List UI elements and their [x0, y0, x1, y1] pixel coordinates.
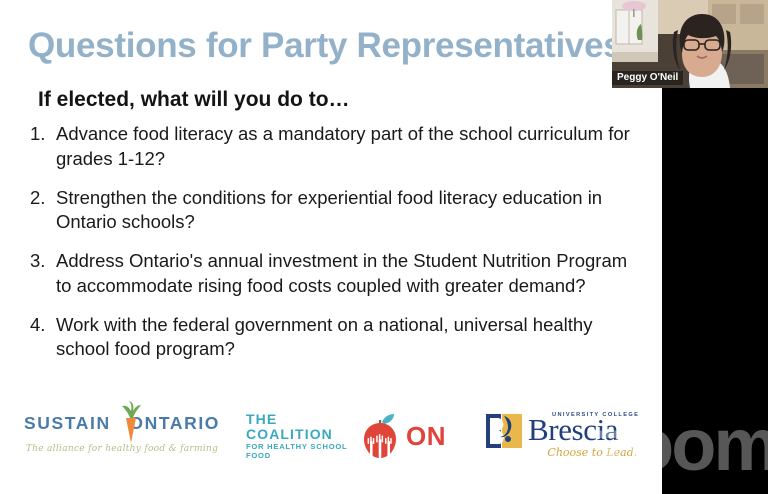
zoom-screen-share-view: Questions for Party Representatives If e… — [0, 0, 768, 494]
logo-coalition-line1: THE COALITION — [246, 412, 348, 441]
list-item-number: 1. — [30, 122, 56, 147]
page-title: Questions for Party Representatives — [28, 26, 622, 66]
apple-with-hands-icon — [352, 413, 408, 459]
logo-brescia-tagline: Choose to Lead. — [528, 446, 637, 459]
list-item-number: 3. — [30, 249, 56, 274]
logo-sustain-ontario: SUSTAIN ONTARIO The alliance for healthy… — [24, 404, 220, 454]
logo-sustain-word-left: SUSTAIN — [24, 413, 111, 434]
list-item-text: Advance food literacy as a mandatory par… — [56, 122, 638, 172]
logo-brescia-name: Brescia — [528, 416, 639, 445]
carrot-root-icon — [126, 418, 136, 443]
logo-coalition-line2: FOR HEALTHY SCHOOL FOOD — [246, 442, 348, 460]
presentation-slide: Questions for Party Representatives If e… — [0, 0, 662, 494]
list-item: 1. Advance food literacy as a mandatory … — [30, 122, 638, 172]
list-item: 3. Address Ontario's annual investment i… — [30, 249, 638, 299]
list-item-text: Work with the federal government on a na… — [56, 313, 638, 363]
questions-list: 1. Advance food literacy as a mandatory … — [30, 122, 638, 376]
partner-logo-strip: SUSTAIN ONTARIO The alliance for healthy… — [0, 398, 662, 482]
list-item: 4. Work with the federal government on a… — [30, 313, 638, 363]
participant-video-tile[interactable]: Peggy O'Neil — [612, 0, 768, 88]
participant-name-label: Peggy O'Neil — [612, 71, 683, 85]
list-item: 2. Strengthen the conditions for experie… — [30, 186, 638, 236]
carrot-icon — [113, 401, 128, 445]
slide-subtitle: If elected, what will you do to… — [38, 88, 350, 112]
logo-sustain-tagline: The alliance for healthy food & farming — [24, 444, 220, 454]
list-item-text: Strengthen the conditions for experienti… — [56, 186, 638, 236]
logo-coalition-healthy-school-food: THE COALITION FOR HEALTHY SCHOOL FOOD — [246, 412, 446, 460]
logo-sustain-word-right: ONTARIO — [129, 413, 220, 434]
logo-brescia-university-college: UNIVERSITY COLLEGE Brescia Choose to Lea… — [484, 412, 644, 459]
list-item-text: Address Ontario's annual investment in t… — [56, 249, 638, 299]
brescia-b-mark-icon — [484, 412, 524, 450]
list-item-number: 2. — [30, 186, 56, 211]
list-item-number: 4. — [30, 313, 56, 338]
logo-coalition-suffix: ON — [406, 421, 446, 452]
